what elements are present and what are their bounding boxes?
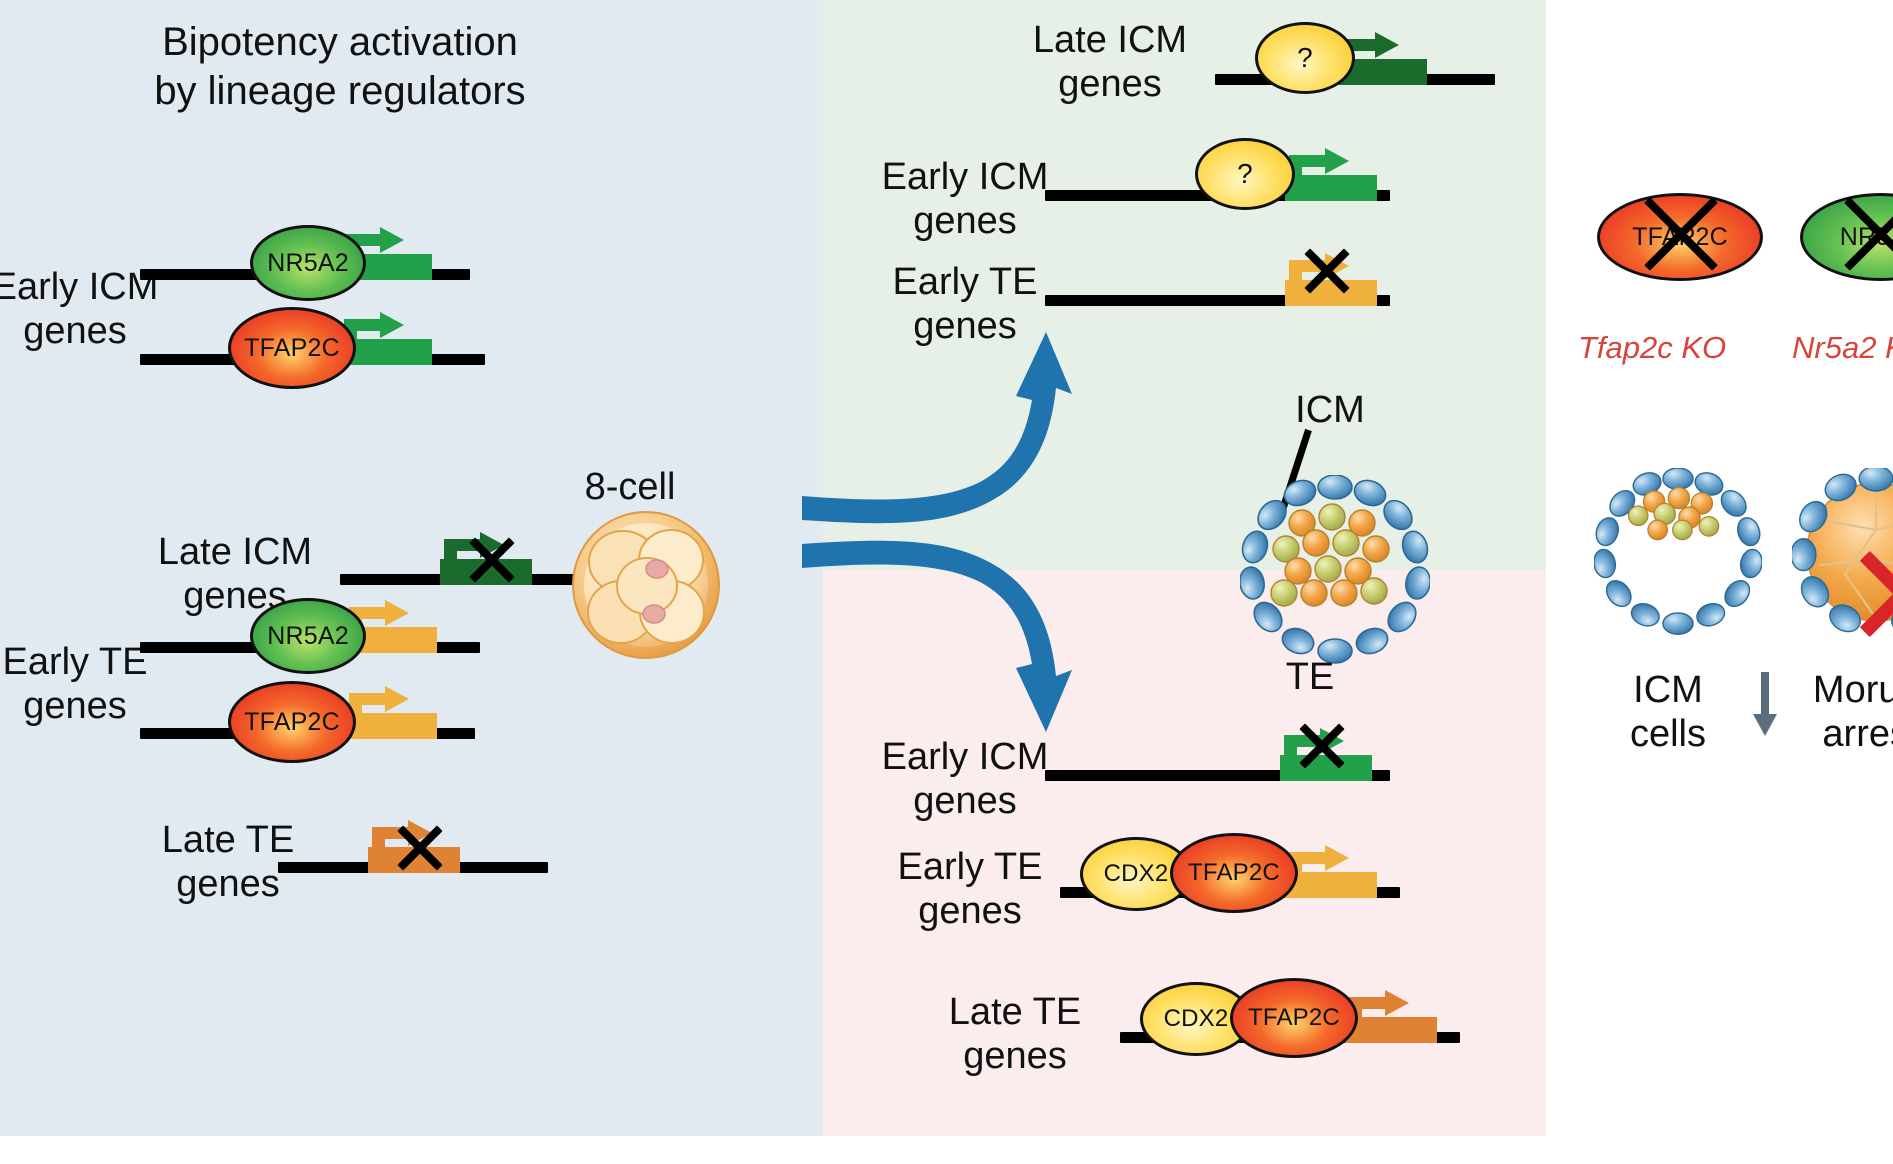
- blastocyst-reduced-icm: [1594, 468, 1762, 636]
- down-arrow-icon: [1752, 672, 1778, 738]
- tf-oval-tfap2c: TFAP2C: [228, 681, 356, 763]
- tf-oval-tfap2c: TFAP2C: [1170, 833, 1298, 913]
- fate-label-icm: ICM: [1255, 388, 1405, 432]
- track-te-early-te: CDX2 TFAP2C: [1060, 845, 1400, 915]
- tf-oval-tfap2c: TFAP2C: [228, 307, 356, 389]
- cross-out-mark-red: [1842, 540, 1893, 648]
- tf-oval-nr5a2: NR5A2: [250, 225, 366, 301]
- cross-out-mark: [1825, 186, 1893, 282]
- phenotype-label-icm-cells: ICM cells: [1588, 668, 1748, 756]
- embryo-8-cell: [571, 510, 721, 660]
- gene-body-late-te: [1345, 1012, 1437, 1043]
- tf-oval-unknown: ?: [1195, 138, 1295, 210]
- tf-oval-nr5a2: NR5A2: [250, 598, 366, 674]
- te-label-early-te: Early TE genes: [855, 845, 1085, 933]
- track-icm-late-icm: ?: [1215, 40, 1495, 110]
- page-title: Bipotency activation by lineage regulato…: [60, 18, 620, 116]
- stage-label-8cell: 8-cell: [540, 465, 720, 509]
- track-early-te-tfap2c: TFAP2C: [140, 694, 475, 764]
- track-early-te-nr5a2: NR5A2: [140, 608, 480, 678]
- gene-body-early-icm: [1285, 170, 1377, 201]
- cross-out-mark: [460, 532, 516, 588]
- ko-label-tfap2c: Tfap2c KO: [1578, 330, 1726, 366]
- cross-out-mark: [1625, 186, 1729, 282]
- cross-out-mark: [1290, 718, 1346, 774]
- track-icm-early-icm: ?: [1045, 150, 1390, 220]
- bottom-white-strip: [0, 1136, 1546, 1164]
- ko-label-nr5a2: Nr5a2 KO: [1792, 330, 1893, 366]
- te-label-late-te: Late TE genes: [900, 990, 1130, 1078]
- track-icm-early-te: [1045, 255, 1390, 325]
- icm-label-late-icm: Late ICM genes: [1000, 18, 1220, 106]
- track-te-early-icm: [1045, 730, 1390, 800]
- tf-oval-tfap2c: TFAP2C: [1230, 978, 1358, 1058]
- blastocyst-icm: [1240, 475, 1430, 665]
- cross-out-mark: [1295, 243, 1351, 299]
- fate-label-te: TE: [1235, 655, 1385, 699]
- cross-out-mark: [388, 820, 444, 876]
- track-late-te: [278, 828, 548, 898]
- track-early-icm-nr5a2: NR5A2: [140, 235, 470, 305]
- phenotype-label-morula-arrest: Morula arrest: [1786, 668, 1893, 756]
- ko-tfap2c: TFAP2C: [1597, 188, 1757, 278]
- track-te-late-te: CDX2 TFAP2C: [1120, 990, 1460, 1060]
- gene-body-early-te: [345, 708, 437, 739]
- gene-body-early-te: [1285, 867, 1377, 898]
- track-early-icm-tfap2c: TFAP2C: [140, 320, 485, 390]
- tf-oval-unknown: ?: [1255, 22, 1355, 94]
- ko-nr5a2: NR5A2: [1800, 188, 1893, 278]
- track-late-icm: [340, 540, 600, 610]
